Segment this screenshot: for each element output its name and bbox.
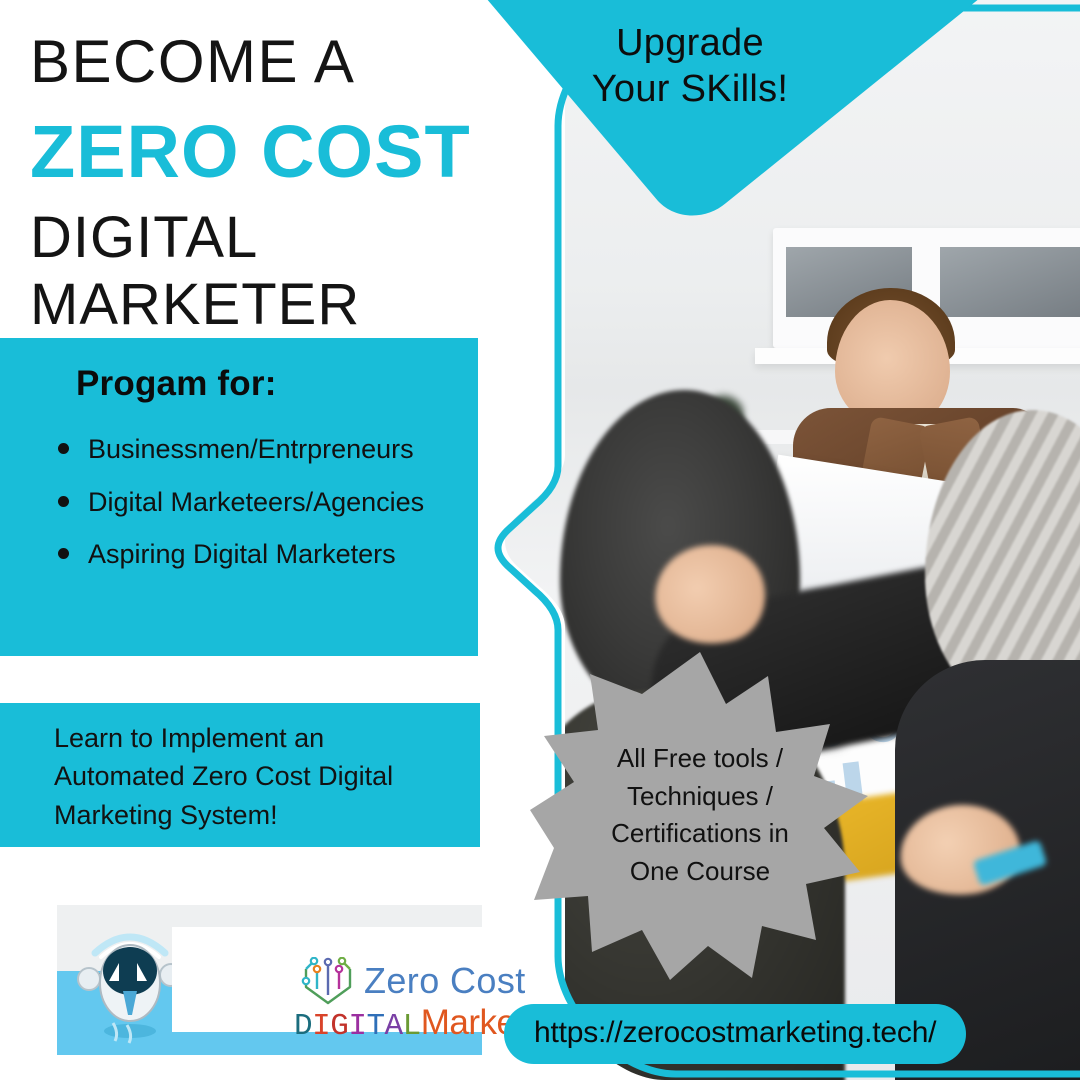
logo-white-card: Zero Cost DIGITALMarketing [172, 927, 482, 1032]
bullet-icon [58, 443, 69, 454]
poster-canvas: Upgrade Your SKills! BECOME A ZERO COST … [0, 0, 1080, 1080]
program-for-title: Progam for: [76, 364, 478, 404]
logo-letter-g: G [330, 1009, 348, 1044]
starburst-badge-text: All Free tools / Techniques / Certificat… [552, 740, 848, 891]
website-url-pill[interactable]: https://zerocostmarketing.tech/ [504, 1004, 966, 1064]
starburst-line-2: Techniques / [552, 778, 848, 816]
starburst-line-1: All Free tools / [552, 740, 848, 778]
learn-statement-box: Learn to Implement an Automated Zero Cos… [0, 703, 480, 847]
bullet-icon [58, 496, 69, 507]
logo-top-row: Zero Cost [300, 957, 600, 1005]
program-audience-list: Businessmen/Entrpreneurs Digital Markete… [54, 432, 478, 572]
logo-letter-t: T [366, 1009, 384, 1044]
list-item: Aspiring Digital Marketers [54, 537, 478, 572]
bullet-icon [58, 548, 69, 559]
list-item-label: Aspiring Digital Marketers [88, 539, 396, 569]
starburst-line-4: One Course [552, 853, 848, 891]
list-item: Digital Marketeers/Agencies [54, 485, 478, 520]
photo-cabinet-pane-right [933, 240, 1080, 324]
logo-brand-top: Zero Cost [364, 960, 526, 1002]
logo-letter-i2: I [348, 1009, 366, 1044]
headline-line-1: BECOME A [30, 28, 590, 96]
learn-statement-text: Learn to Implement an Automated Zero Cos… [54, 719, 454, 834]
logo-letter-d: D [294, 1009, 312, 1044]
circuit-tree-icon [300, 957, 356, 1005]
logo-letter-i: I [312, 1009, 330, 1044]
program-for-box: Progam for: Businessmen/Entrpreneurs Dig… [0, 338, 478, 656]
starburst-line-3: Certifications in [552, 815, 848, 853]
logo-letter-l: L [403, 1009, 421, 1044]
list-item: Businessmen/Entrpreneurs [54, 432, 478, 467]
list-item-label: Digital Marketeers/Agencies [88, 487, 424, 517]
robot-mascot-icon [75, 919, 185, 1045]
brand-logo-block: Zero Cost DIGITALMarketing [57, 905, 482, 1055]
headline-line-3: DIGITAL MARKETER [30, 204, 590, 339]
list-item-label: Businessmen/Entrpreneurs [88, 434, 414, 464]
page-title: BECOME A ZERO COST DIGITAL MARKETER [30, 28, 590, 339]
logo-letter-a: A [385, 1009, 403, 1044]
headline-line-2-accent: ZERO COST [30, 106, 590, 198]
